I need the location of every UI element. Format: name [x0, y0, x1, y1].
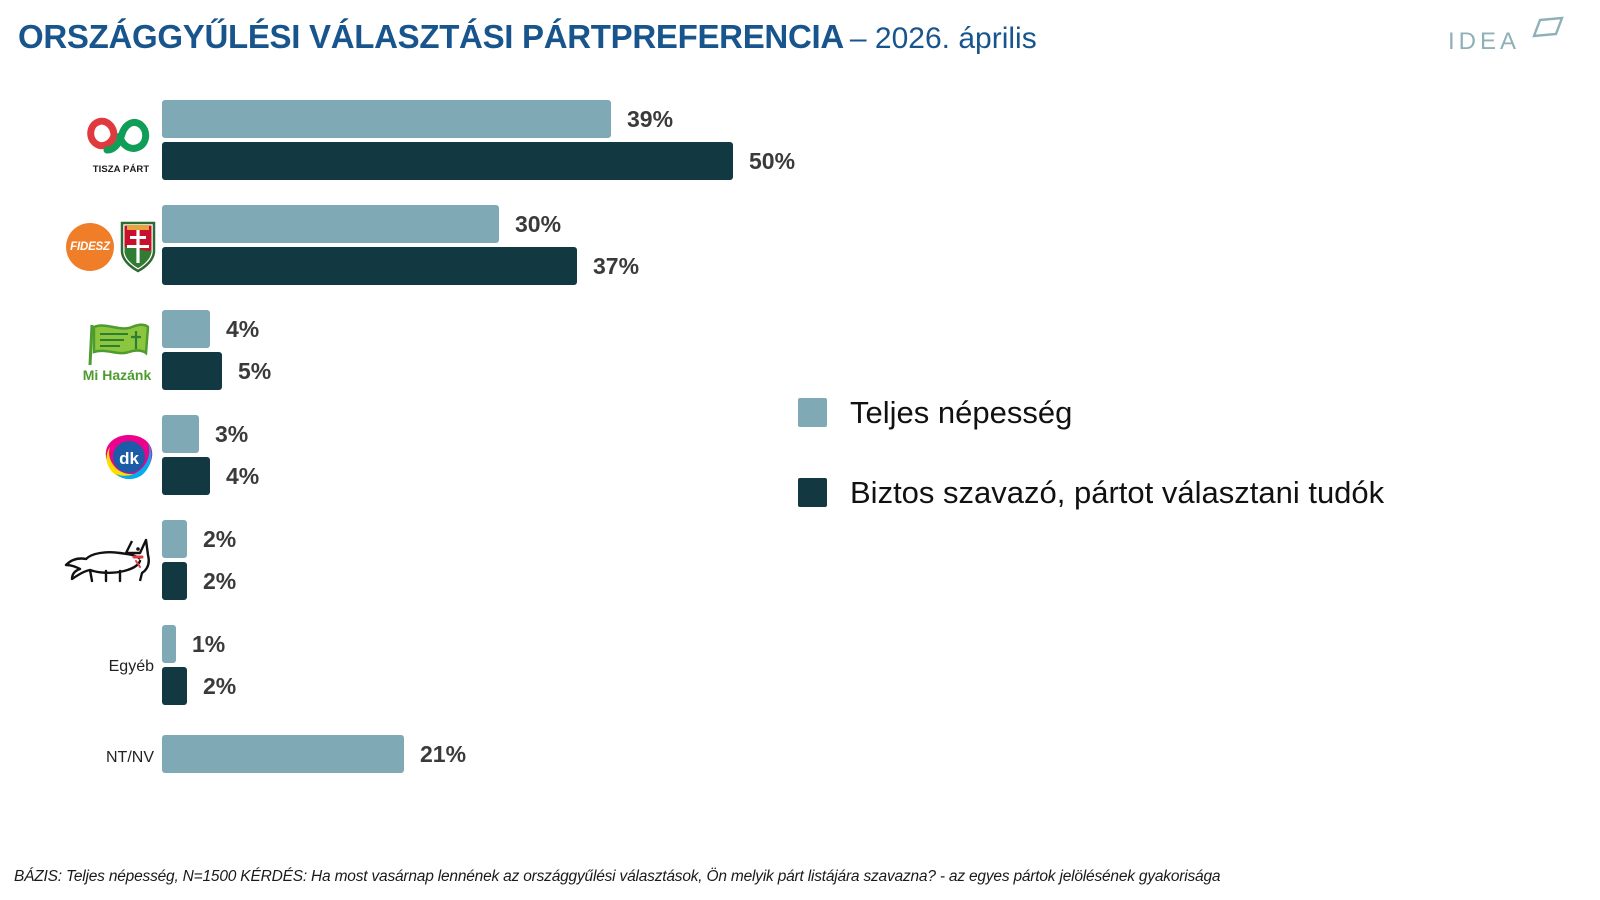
- page-subtitle: – 2026. április: [850, 22, 1037, 55]
- bar-value-teljes: 39%: [627, 100, 673, 138]
- tisza-infinity-icon: [84, 110, 158, 162]
- slide-root: ORSZÁGGYŰLÉSI VÁLASZTÁSI PÁRTPREFERENCIA…: [0, 0, 1600, 900]
- bar-value-teljes: 2%: [203, 520, 236, 558]
- row-logo-cell: FIDESZ: [48, 201, 160, 293]
- chart-row-fidesz: FIDESZ 30% 37%: [0, 201, 1600, 297]
- chart-row-ntnv: NT/NV 21%: [0, 731, 1600, 827]
- row-logo-cell: Egyéb: [48, 621, 160, 713]
- mihazank-flag-icon: [76, 321, 158, 367]
- bar-value-biztos: 5%: [238, 352, 271, 390]
- row-logo-cell: NT/NV: [48, 731, 160, 823]
- footnote: BÁZIS: Teljes népesség, N=1500 KÉRDÉS: H…: [14, 868, 1584, 886]
- bar-teljes-nepesseg: [162, 735, 404, 773]
- bar-biztos-szavazo: [162, 247, 577, 285]
- page-title: ORSZÁGGYŰLÉSI VÁLASZTÁSI PÁRTPREFERENCIA: [18, 18, 844, 55]
- dk-logo: dk: [100, 429, 158, 485]
- bar-teljes-nepesseg: [162, 310, 210, 348]
- bar-value-teljes: 21%: [420, 735, 466, 773]
- bar-teljes-nepesseg: [162, 205, 499, 243]
- legend-label-teljes: Teljes népesség: [850, 390, 1072, 436]
- bar-value-biztos: 2%: [203, 562, 236, 600]
- bar-value-biztos: 50%: [749, 142, 795, 180]
- bar-value-teljes: 4%: [226, 310, 259, 348]
- bar-value-teljes: 1%: [192, 625, 225, 663]
- chart-row-mihazank: Mi Hazánk 4% 5%: [0, 306, 1600, 402]
- row-logo-cell: Mi Hazánk: [48, 306, 160, 398]
- row-logo-cell: TISZA PÁRT: [48, 96, 160, 188]
- mkkp-dog-logo: [62, 533, 158, 591]
- bar-biztos-szavazo: [162, 562, 187, 600]
- bar-value-biztos: 4%: [226, 457, 259, 495]
- legend-swatch-light-icon: [798, 398, 827, 427]
- bar-value-teljes: 3%: [215, 415, 248, 453]
- idea-logo: IDEA: [1440, 16, 1570, 62]
- row-logo-cell: dk: [48, 411, 160, 503]
- bar-teljes-nepesseg: [162, 625, 176, 663]
- chart-row-egyeb: Egyéb 1% 2%: [0, 621, 1600, 717]
- legend-label-biztos: Biztos szavazó, pártot választani tudók: [850, 470, 1384, 516]
- mihazank-logo-caption: Mi Hazánk: [76, 367, 158, 383]
- row-label-ntnv: NT/NV: [106, 749, 154, 767]
- chart-row-tisza: TISZA PÁRT 39% 50%: [0, 96, 1600, 192]
- row-logo-cell: [48, 516, 160, 608]
- kdnp-shield-icon: [118, 219, 158, 275]
- tisza-logo: TISZA PÁRT: [84, 110, 158, 174]
- fidesz-logo: FIDESZ: [66, 223, 114, 271]
- bar-teljes-nepesseg: [162, 520, 187, 558]
- bar-biztos-szavazo: [162, 667, 187, 705]
- bar-teljes-nepesseg: [162, 415, 199, 453]
- bar-biztos-szavazo: [162, 352, 222, 390]
- row-label-egyeb: Egyéb: [109, 658, 154, 676]
- header: ORSZÁGGYŰLÉSI VÁLASZTÁSI PÁRTPREFERENCIA…: [18, 18, 1418, 66]
- bar-teljes-nepesseg: [162, 100, 611, 138]
- tisza-logo-caption: TISZA PÁRT: [84, 164, 158, 175]
- legend-swatch-dark-icon: [798, 478, 827, 507]
- legend: Teljes népesség Biztos szavazó, pártot v…: [798, 390, 1538, 532]
- mihazank-logo: Mi Hazánk: [76, 321, 158, 383]
- dk-logo-caption: dk: [119, 449, 139, 468]
- idea-logo-text: IDEA: [1448, 28, 1520, 56]
- bar-biztos-szavazo: [162, 457, 210, 495]
- bar-biztos-szavazo: [162, 142, 733, 180]
- bar-value-biztos: 2%: [203, 667, 236, 705]
- fidesz-logo-caption: FIDESZ: [70, 241, 110, 253]
- legend-item-biztos-szavazo[interactable]: Biztos szavazó, pártot választani tudók: [798, 470, 1538, 532]
- legend-item-teljes-nepesseg[interactable]: Teljes népesség: [798, 390, 1538, 452]
- bar-value-teljes: 30%: [515, 205, 561, 243]
- bar-value-biztos: 37%: [593, 247, 639, 285]
